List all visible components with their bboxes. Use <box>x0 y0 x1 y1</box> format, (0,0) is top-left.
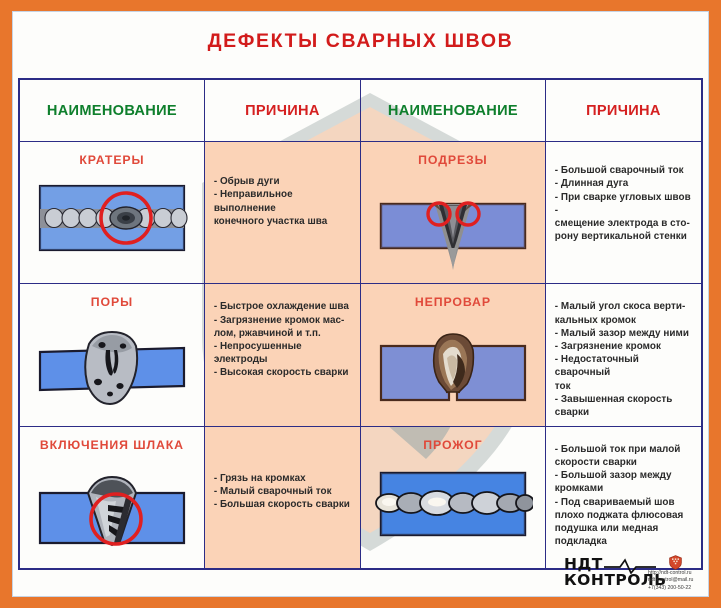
cause-text: - Большой сварочный ток - Длинная дуга -… <box>555 164 694 243</box>
defect-name-label: ПОДРЕЗЫ <box>361 153 545 167</box>
cause-text: - Грязь на кромках - Малый сварочный ток… <box>214 472 353 512</box>
defect-cell-craters: КРАТЕРЫ <box>20 142 205 284</box>
defect-cell-slag-inclusions: ВКЛЮЧЕНИЯ ШЛАКА <box>20 426 205 568</box>
cause-text: - Малый угол скоса верти- кальных кромок… <box>555 300 694 419</box>
cause-list: - Обрыв дуги - Неправильное выполнение к… <box>205 142 360 228</box>
logo-website: http://ndt-control.ru <box>648 570 693 577</box>
weld-lack-of-penetration-diagram <box>373 320 533 412</box>
cause-cell-craters: - Обрыв дуги - Неправильное выполнение к… <box>204 142 360 284</box>
company-logo: НДТ КОНТРОЛЬ http://ndt-control.ru <box>558 555 708 597</box>
weld-bead-crater-diagram <box>34 178 190 260</box>
header-cell-cause-right: ПРИЧИНА <box>545 80 701 142</box>
logo-email: ndt-control@mail.ru <box>648 577 693 584</box>
ndt-shield-icon <box>669 555 682 570</box>
table-row: ПОРЫ <box>20 284 702 426</box>
header-cell-cause-left: ПРИЧИНА <box>204 80 360 142</box>
weld-porosity-diagram <box>34 320 190 412</box>
table-header-row: НАИМЕНОВАНИЕ ПРИЧИНА НАИМЕНОВАНИЕ ПРИЧИН… <box>20 80 702 142</box>
cause-list: - Малый угол скоса верти- кальных кромок… <box>546 284 701 419</box>
cause-text: - Быстрое охлаждение шва - Загрязнение к… <box>214 300 353 379</box>
cause-text: - Большой ток при малой скорости сварки … <box>555 443 694 549</box>
defect-name-label: ВКЛЮЧЕНИЯ ШЛАКА <box>20 438 204 452</box>
defect-name-label: ПРОЖОГ <box>361 438 545 452</box>
defect-name-label: НЕПРОВАР <box>361 295 545 309</box>
cause-cell-pores: - Быстрое охлаждение шва - Загрязнение к… <box>204 284 360 426</box>
column-header-label: ПРИЧИНА <box>586 103 661 119</box>
weld-burn-through-diagram <box>373 463 533 545</box>
defect-cell-pores: ПОРЫ <box>20 284 205 426</box>
column-header-label: НАИМЕНОВАНИЕ <box>388 103 518 119</box>
cause-text: - Обрыв дуги - Неправильное выполнение к… <box>214 175 353 228</box>
column-header-label: ПРИЧИНА <box>245 103 320 119</box>
defect-cell-lack-of-penetration: НЕПРОВАР <box>360 284 545 426</box>
table-row: КРАТЕРЫ <box>20 142 702 284</box>
cause-cell-burn-through: - Большой ток при малой скорости сварки … <box>545 426 701 568</box>
header-cell-name-left: НАИМЕНОВАНИЕ <box>20 80 205 142</box>
page-title: ДЕФЕКТЫ СВАРНЫХ ШВОВ <box>12 30 709 53</box>
cause-list: - Быстрое охлаждение шва - Загрязнение к… <box>205 284 360 379</box>
cause-list: - Большой сварочный ток - Длинная дуга -… <box>546 142 701 243</box>
defect-name-label: ПОРЫ <box>20 295 204 309</box>
defect-cell-burn-through: ПРОЖОГ <box>360 426 545 568</box>
weld-undercut-diagram <box>373 178 533 274</box>
defect-cell-undercut: ПОДРЕЗЫ <box>360 142 545 284</box>
cause-cell-slag-inclusions: - Грязь на кромках - Малый сварочный ток… <box>204 426 360 568</box>
cause-cell-lack-of-penetration: - Малый угол скоса верти- кальных кромок… <box>545 284 701 426</box>
defect-name-label: КРАТЕРЫ <box>20 153 204 167</box>
cause-cell-undercut: - Большой сварочный ток - Длинная дуга -… <box>545 142 701 284</box>
poster-page: ДЕФЕКТЫ СВАРНЫХ ШВОВ <box>12 11 709 597</box>
logo-contact-info: http://ndt-control.ru ndt-control@mail.r… <box>648 570 693 592</box>
table-row: ВКЛЮЧЕНИЯ ШЛАКА <box>20 426 702 568</box>
column-header-label: НАИМЕНОВАНИЕ <box>47 103 177 119</box>
logo-phone: +7(343) 200-50-22 <box>648 585 693 592</box>
header-cell-name-right: НАИМЕНОВАНИЕ <box>360 80 545 142</box>
defects-table: НАИМЕНОВАНИЕ ПРИЧИНА НАИМЕНОВАНИЕ ПРИЧИН… <box>18 78 703 570</box>
cause-list: - Большой ток при малой скорости сварки … <box>546 427 701 549</box>
weld-slag-inclusion-diagram <box>34 463 190 553</box>
cause-list: - Грязь на кромках - Малый сварочный ток… <box>205 427 360 512</box>
poster-root: ДЕФЕКТЫ СВАРНЫХ ШВОВ <box>0 0 721 608</box>
